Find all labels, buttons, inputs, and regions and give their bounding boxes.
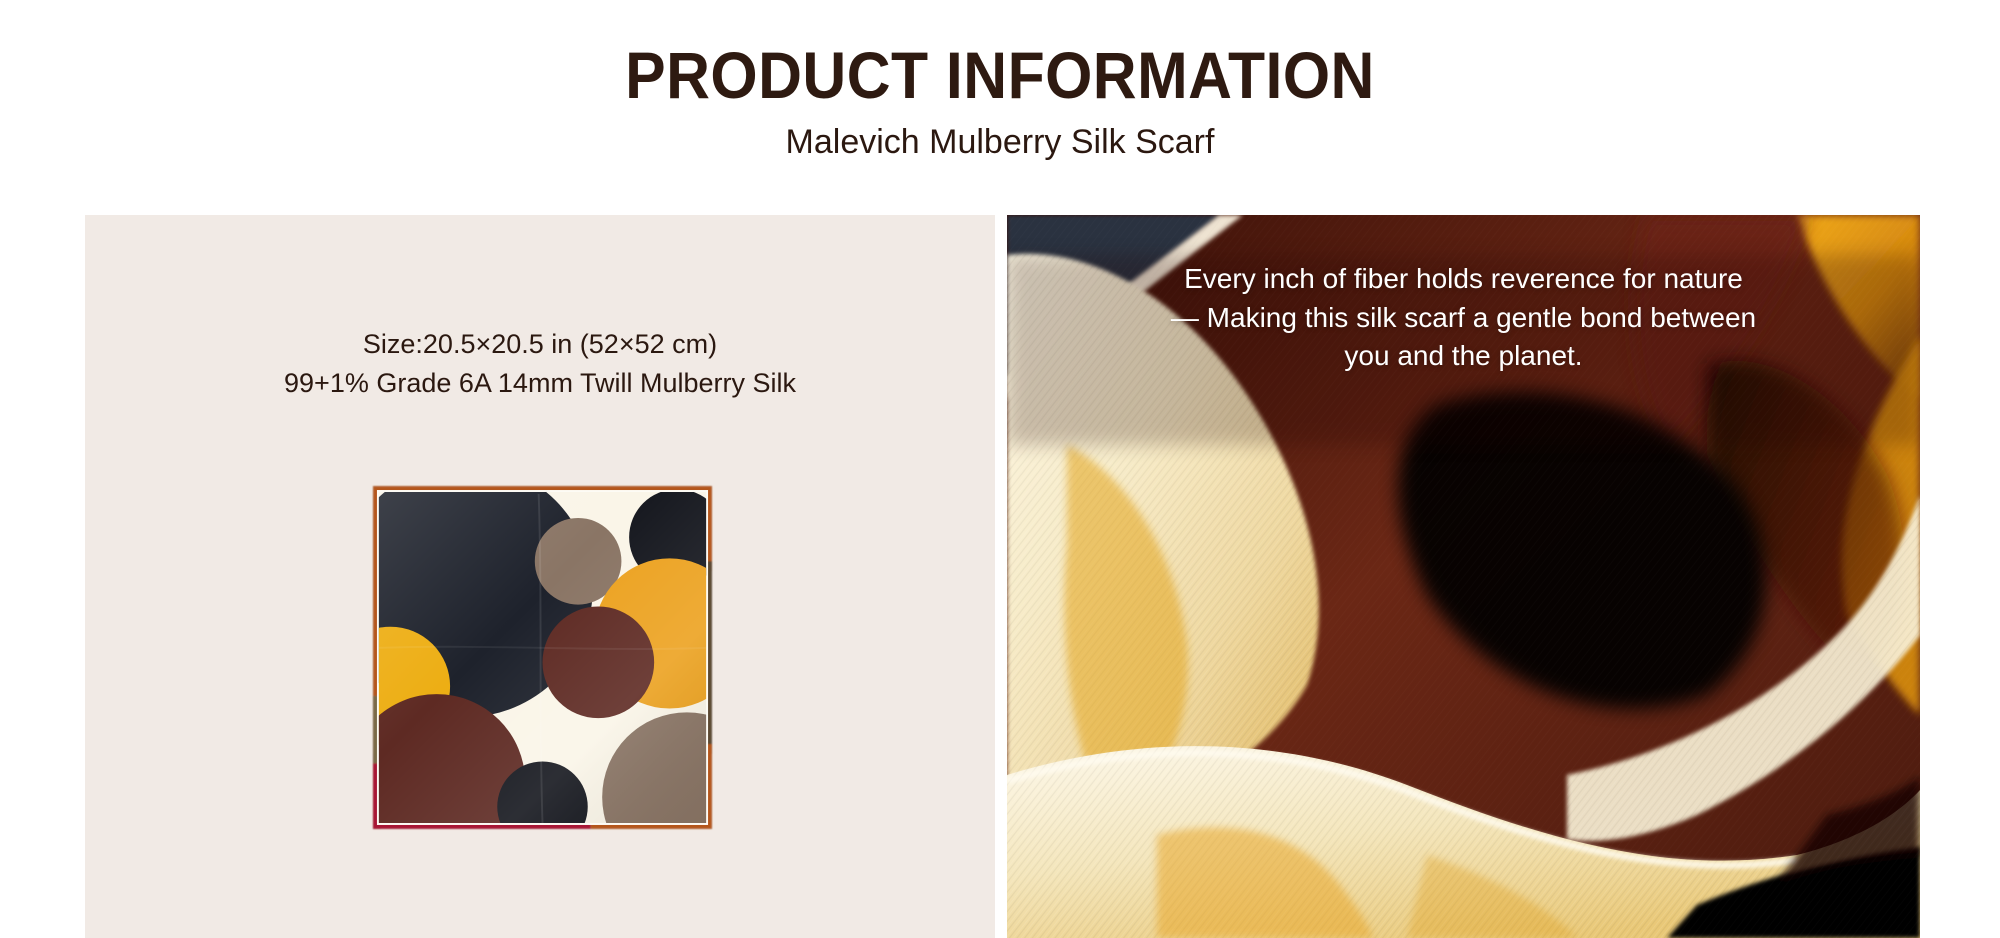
spec-line-material: 99+1% Grade 6A 14mm Twill Mulberry Silk	[85, 364, 995, 403]
page-title: PRODUCT INFORMATION	[80, 42, 1920, 108]
spec-line-size: Size:20.5×20.5 in (52×52 cm)	[85, 325, 995, 364]
scarf-product-image	[350, 465, 735, 850]
page-subtitle: Malevich Mulberry Silk Scarf	[0, 125, 2000, 159]
specification-block: Size:20.5×20.5 in (52×52 cm) 99+1% Grade…	[85, 325, 995, 403]
silk-drape-illustration	[1007, 215, 1920, 938]
right-photo-panel: Every inch of fiber holds reverence for …	[1007, 215, 1920, 938]
product-information-page: PRODUCT INFORMATION Malevich Mulberry Si…	[0, 0, 2000, 938]
page-header: PRODUCT INFORMATION Malevich Mulberry Si…	[0, 0, 2000, 185]
left-product-panel: Size:20.5×20.5 in (52×52 cm) 99+1% Grade…	[85, 215, 995, 938]
scarf-pattern-graphic	[350, 465, 735, 850]
silk-drape-photo	[1007, 215, 1920, 938]
